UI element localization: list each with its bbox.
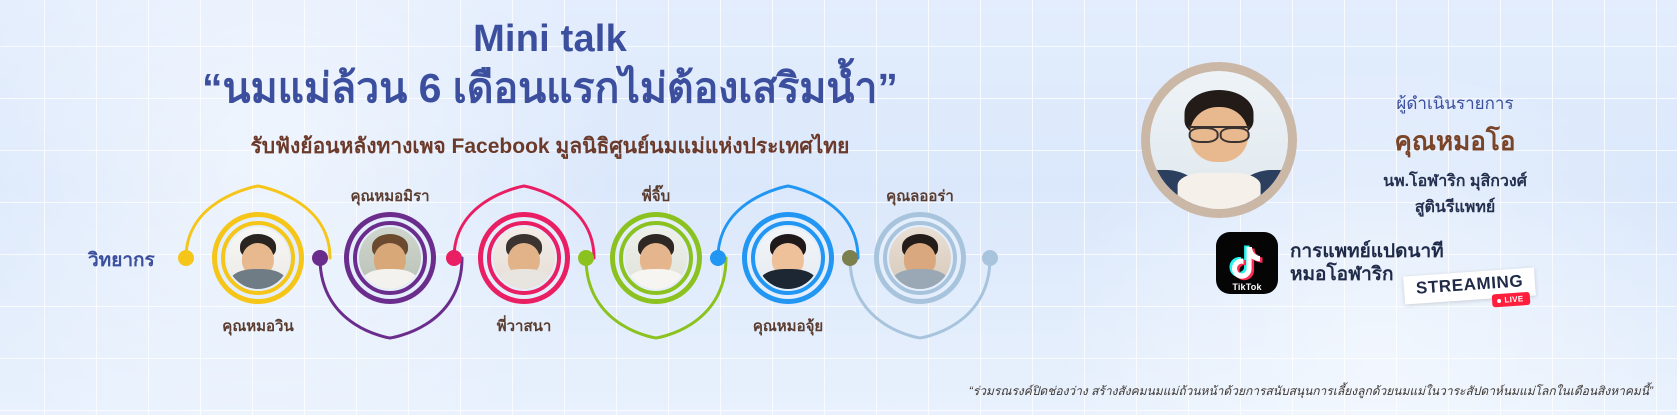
speaker-avatar-5[interactable]	[742, 212, 834, 304]
speaker-label-1: คุณหมอวิน	[222, 314, 293, 338]
speaker-avatar-1[interactable]	[212, 212, 304, 304]
speaker-avatar-6[interactable]	[874, 212, 966, 304]
moderator-photo-inner	[1150, 71, 1288, 209]
moderator-fullname: นพ.โอฬาริก มุสิกวงศ์	[1290, 169, 1620, 194]
speaker-label-4: พี่จิ๊บ	[642, 184, 670, 208]
headline-block: Mini talk “นมแม่ล้วน 6 เดือนแรกไม่ต้องเส…	[0, 18, 1100, 163]
tiktok-caption-line1: การแพทย์แปดนาที	[1290, 240, 1444, 263]
speaker-label-6: คุณลออร่า	[886, 184, 954, 208]
title-quote: “นมแม่ล้วน 6 เดือนแรกไม่ต้องเสริมน้ำ”	[0, 63, 1100, 114]
page-title: Mini talk	[0, 18, 1100, 61]
speaker-label-3: พี่วาสนา	[497, 314, 552, 338]
moderator-role: ผู้ดำเนินรายการ	[1290, 90, 1620, 117]
moderator-name: คุณหมอโอ	[1290, 121, 1620, 162]
moderator-info: ผู้ดำเนินรายการ คุณหมอโอ นพ.โอฬาริก มุสิ…	[1290, 90, 1620, 220]
footer-tagline: “ร่วมรณรงค์ปิดช่องว่าง สร้างสังคมนมแม่ถ้…	[969, 382, 1653, 401]
tiktok-note-white	[1232, 246, 1262, 280]
live-label: LIVE	[1504, 294, 1524, 304]
tiktok-icon[interactable]: TikTok	[1216, 232, 1278, 294]
speaker-label-2: คุณหมอมิรา	[350, 184, 429, 208]
speaker-timeline: คุณหมอวิน คุณหมอมิรา พี่วาสนา	[0, 178, 1070, 353]
speaker-label-5: คุณหมอจุ้ย	[753, 314, 823, 338]
glasses-icon	[1189, 126, 1250, 138]
live-badge: LIVE	[1492, 292, 1531, 308]
speaker-avatar-3[interactable]	[478, 212, 570, 304]
webinar-banner: Mini talk “นมแม่ล้วน 6 เดือนแรกไม่ต้องเส…	[0, 0, 1677, 415]
moderator-shirt	[1178, 173, 1261, 209]
live-dot-icon	[1497, 298, 1501, 302]
speaker-avatar-4[interactable]	[610, 212, 702, 304]
moderator-specialty: สูตินรีแพทย์	[1290, 195, 1620, 220]
tiktok-note-glyph	[1232, 246, 1262, 280]
tiktok-wordmark: TikTok	[1216, 282, 1278, 292]
moderator-avatar[interactable]	[1141, 62, 1297, 218]
subtitle: รับฟังย้อนหลังทางเพจ Facebook มูลนิธิศูน…	[0, 130, 1100, 163]
speaker-avatar-2[interactable]	[344, 212, 436, 304]
